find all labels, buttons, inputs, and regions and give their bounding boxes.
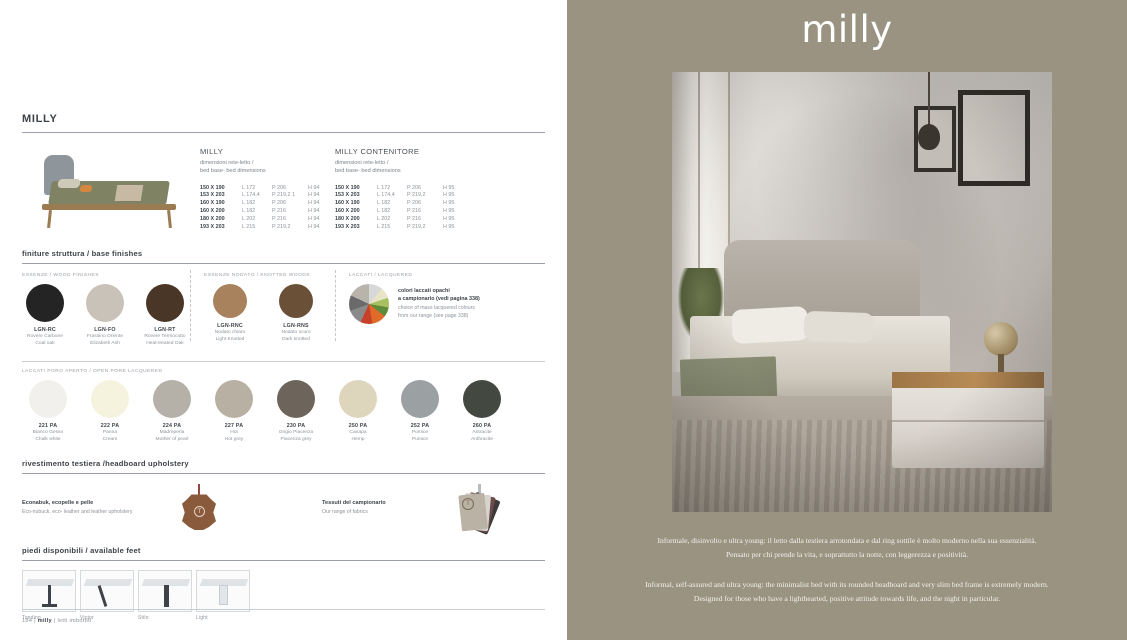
table-row: 153 X 203 L 174,4 P 219,2 H 95 <box>335 192 470 200</box>
wood-finishes-label: ESSENZE / WOOD FINISHES <box>22 273 190 278</box>
swatch-code: 222 PA <box>84 423 136 429</box>
cell-height: H 94 <box>308 207 335 215</box>
cell-size: 153 X 203 <box>200 192 242 200</box>
photo-caption: Informale, disinvolto e ultra young: il … <box>607 534 1087 606</box>
cell-length: L 174,4 <box>242 192 272 200</box>
swatch-color-circle <box>463 380 501 418</box>
cell-size: 180 X 200 <box>335 215 377 223</box>
swatch-color-circle <box>153 380 191 418</box>
cell-height: H 95 <box>443 199 470 207</box>
foot-option-stilo[interactable]: Stilo <box>138 570 192 621</box>
foot-stem-shape <box>164 585 169 607</box>
foot-stem-shape <box>98 586 108 608</box>
right-page: milly Informal <box>567 0 1127 640</box>
footer-separator: | <box>34 618 36 624</box>
dimension-block-title: MILLY CONTENITORE <box>335 147 470 156</box>
footer-category: letti imbottiti <box>57 618 91 624</box>
knotted-woods-panel: ESSENZE NODATO / KNOTTED WOODS LGN-RNC N… <box>190 266 335 347</box>
cell-length: L 182 <box>377 207 407 215</box>
cell-depth: P 216 <box>407 215 443 223</box>
foot-stem-shape <box>48 585 51 605</box>
table-row: 160 X 200 L 182 P 216 H 95 <box>335 207 470 215</box>
catalog-spread: MILLY MILLY <box>0 0 1127 640</box>
left-page: MILLY MILLY <box>0 0 567 640</box>
dimension-table: 150 X 190 L 172 P 206 H 94 153 X 203 L 1… <box>200 184 335 231</box>
dimension-block-milly: MILLY dimensioni rete-letto / bed base- … <box>200 147 335 233</box>
swatch-name-it: Madreperla <box>146 430 198 437</box>
swatch-name-it: Frassino Oriente <box>82 334 128 341</box>
foot-option-tondino[interactable]: Tondino <box>22 570 76 621</box>
foot-image <box>138 570 192 612</box>
cell-depth: P 219,2 <box>272 223 308 231</box>
swatch-name-it: Canapa <box>332 430 384 437</box>
table-row: 160 X 200 L 182 P 216 H 94 <box>200 207 335 215</box>
cell-depth: P 206 <box>407 184 443 192</box>
table-row: 153 X 203 L 174,4 P 219,2 1 H 94 <box>200 192 335 200</box>
bed-leg-left <box>47 210 52 228</box>
cell-size: 153 X 203 <box>335 192 377 200</box>
caption-en-line-1: Informal, self-assured and ultra young: … <box>607 578 1087 592</box>
table-row: 160 X 190 L 182 P 206 H 95 <box>335 199 470 207</box>
fabric-fan-icon: T <box>452 484 506 530</box>
feet-divider <box>22 560 545 561</box>
swatch-260-pa[interactable]: 260 PA Antracite Anthracite <box>456 380 508 443</box>
swatch-name-it: Nodato scuro <box>270 330 322 337</box>
bed-frame-shape <box>42 204 176 210</box>
table-row: 180 X 200 L 202 P 216 H 95 <box>335 215 470 223</box>
dimension-tables: MILLY dimensioni rete-letto / bed base- … <box>200 147 545 233</box>
cell-size: 150 X 190 <box>335 184 377 192</box>
footer-page-number: 184 <box>22 618 32 624</box>
open-pore-divider <box>22 361 545 362</box>
swatch-code: LGN-RC <box>22 327 68 333</box>
table-row: 150 X 190 L 172 P 206 H 95 <box>335 184 470 192</box>
foot-option-light[interactable]: Light <box>196 570 250 621</box>
dimension-block-subtitle: dimensioni rete-letto / bed base- bed di… <box>335 159 470 176</box>
swatch-code: LGN-RNS <box>270 323 322 329</box>
swatch-color-circle <box>277 380 315 418</box>
swatch-name-en: Mother of pearl <box>146 437 198 444</box>
footer-collection: milly <box>38 618 52 624</box>
swatch-code: 224 PA <box>146 423 198 429</box>
swatch-name-it: Nodato chiaro <box>204 330 256 337</box>
page-title: MILLY <box>22 0 545 125</box>
lacquered-line-4: from our range (see page 338) <box>398 312 480 320</box>
foot-image <box>196 570 250 612</box>
dimension-subtitle-en: bed base- bed dimensions <box>200 167 335 175</box>
bed-leg-right <box>167 210 172 228</box>
panel-divider <box>335 270 336 341</box>
swatch-code: 227 PA <box>208 423 260 429</box>
section-heading-feet: piedi disponibili / available feet <box>22 546 545 555</box>
swatch-color-circle <box>215 380 253 418</box>
cell-height: H 94 <box>308 184 335 192</box>
wood-finishes-panel: ESSENZE / WOOD FINISHES LGN-RC Rovere Ca… <box>22 266 190 347</box>
dimension-block-subtitle: dimensioni rete-letto / bed base- bed di… <box>200 159 335 176</box>
swatch-lgn-rnc[interactable]: LGN-RNC Nodato chiaro Light Knotted <box>204 284 256 343</box>
cell-length: L 202 <box>242 215 272 223</box>
upholstery-fabric-option[interactable]: Tessuti del campionario Our range of fab… <box>322 484 506 530</box>
foot-label: Stilo <box>138 615 192 621</box>
swatch-color-circle <box>86 284 124 322</box>
caption-en-line-2: Designed for those who have a lightheart… <box>607 592 1087 606</box>
table-row: 150 X 190 L 172 P 206 H 94 <box>200 184 335 192</box>
caption-it-line-2: Pensato per chi prende la vita, e soprat… <box>607 548 1087 562</box>
cell-height: H 95 <box>443 192 470 200</box>
foot-option-victor[interactable]: Victor <box>80 570 134 621</box>
section-heading-base-finishes: finiture struttura / base finishes <box>22 249 545 258</box>
swatch-name-en: Light Knotted <box>204 337 256 344</box>
upholstery-divider <box>22 473 545 474</box>
base-finishes-divider <box>22 263 545 264</box>
cell-height: H 95 <box>443 207 470 215</box>
swatch-name-en: Dark knotted <box>270 337 322 344</box>
cell-size: 160 X 200 <box>335 207 377 215</box>
swatch-code: 221 PA <box>22 423 74 429</box>
swatch-name-en: Anthracite <box>456 437 508 444</box>
swatch-color-circle <box>26 284 64 322</box>
cell-size: 193 X 203 <box>335 223 377 231</box>
footer-separator: | <box>54 618 56 624</box>
swatch-code: 250 PA <box>332 423 384 429</box>
swatch-250-pa[interactable]: 250 PA Canapa Hemp <box>332 380 384 443</box>
bedroom-lifestyle-photo <box>672 72 1052 512</box>
collection-title: milly <box>567 0 1127 51</box>
upholstery-leather-option[interactable]: Econabuk, ecopelle e pelle Eco-nubuck, e… <box>22 484 322 530</box>
swatch-code: LGN-RT <box>142 327 188 333</box>
swatch-name-it: Rovere Termocotto <box>142 334 188 341</box>
swatch-name-it: Hot <box>208 430 260 437</box>
open-pore-label: LACCATI PORO APERTO / OPEN PORE LACQUERE… <box>22 369 545 374</box>
table-row: 193 X 203 L 215 P 219,2 H 95 <box>335 223 470 231</box>
table-row: 193 X 203 L 215 P 219,2 H 94 <box>200 223 335 231</box>
cell-size: 180 X 200 <box>200 215 242 223</box>
foot-label: Light <box>196 615 250 621</box>
upholstery-label-it: Tessuti del campionario <box>322 499 442 508</box>
foot-stem-shape <box>219 585 228 605</box>
caption-italian: Informale, disinvolto e ultra young: il … <box>607 534 1087 562</box>
wood-finishes-swatches: LGN-RC Rovere Carbone Coal oak LGN-FO Fr… <box>22 284 190 347</box>
bed-pillow-shape <box>57 179 80 188</box>
swatch-name-en: Heat-treated Oak <box>142 341 188 348</box>
swatch-lgn-rc[interactable]: LGN-RC Rovere Carbone Coal oak <box>22 284 68 347</box>
foot-image <box>80 570 134 612</box>
swatch-code: 230 PA <box>270 423 322 429</box>
cell-size: 150 X 190 <box>200 184 242 192</box>
swatch-color-circle <box>91 380 129 418</box>
cell-height: H 94 <box>308 215 335 223</box>
cell-length: L 182 <box>242 207 272 215</box>
lacquered-line-3: choice of mass lacquered colours <box>398 304 480 312</box>
cell-height: H 94 <box>308 199 335 207</box>
cell-depth: P 216 <box>272 215 308 223</box>
cell-depth: P 206 <box>272 184 308 192</box>
dimension-subtitle-it: dimensioni rete-letto / <box>335 159 470 167</box>
bed-product-image <box>28 155 188 233</box>
cell-size: 160 X 190 <box>200 199 242 207</box>
upholstery-label-en: Eco-nubuck, eco- leather and leather uph… <box>22 508 172 516</box>
open-pore-swatches: 221 PA Bianco Gesso Chalk white 222 PA P… <box>22 380 545 443</box>
cell-length: L 215 <box>242 223 272 231</box>
cell-length: L 182 <box>377 199 407 207</box>
dimension-block-title: MILLY <box>200 147 335 156</box>
swatch-name-en: Cream <box>84 437 136 444</box>
lacquered-line-1: colori laccati opachi <box>398 287 480 295</box>
swatch-color-circle <box>339 380 377 418</box>
cell-length: L 174,4 <box>377 192 407 200</box>
swatch-name-it: Pomice <box>394 430 446 437</box>
cell-length: L 202 <box>377 215 407 223</box>
base-finishes-panels: ESSENZE / WOOD FINISHES LGN-RC Rovere Ca… <box>22 266 545 347</box>
swatch-name-it: Antracite <box>456 430 508 437</box>
swatch-color-circle <box>29 380 67 418</box>
swatch-name-it: Rovere Carbone <box>22 334 68 341</box>
knotted-woods-label: ESSENZE NODATO / KNOTTED WOODS <box>204 273 335 278</box>
title-divider <box>22 132 545 133</box>
swatch-color-circle <box>279 284 313 318</box>
cell-height: H 94 <box>308 192 335 200</box>
lacquered-line-2: a campionario (vedi pagina 338) <box>398 295 480 303</box>
cell-depth: P 206 <box>272 199 308 207</box>
scene-vignette <box>672 72 1052 512</box>
lacquered-label: LACCATI / LACQUERED <box>349 273 535 278</box>
lacquered-text: colori laccati opachi a campionario (ved… <box>398 284 480 320</box>
swatch-name-it: Grigio Piacenza <box>270 430 322 437</box>
foot-disc-shape <box>42 604 57 607</box>
leather-tag-icon: T <box>182 484 216 530</box>
table-row: 180 X 200 L 202 P 216 H 94 <box>200 215 335 223</box>
cell-depth: P 219,2 1 <box>272 192 308 200</box>
panel-divider <box>190 270 191 341</box>
cell-height: H 95 <box>443 223 470 231</box>
swatch-color-circle <box>213 284 247 318</box>
cell-length: L 172 <box>242 184 272 192</box>
dimension-table: 150 X 190 L 172 P 206 H 95 153 X 203 L 1… <box>335 184 470 231</box>
product-row: MILLY dimensioni rete-letto / bed base- … <box>22 147 545 233</box>
foot-base-shape <box>84 579 133 586</box>
bed-accent-cushion <box>79 185 92 192</box>
caption-it-line-1: Informale, disinvolto e ultra young: il … <box>607 534 1087 548</box>
swatch-color-circle <box>401 380 439 418</box>
swatch-code: LGN-RNC <box>204 323 256 329</box>
colour-wheel-icon <box>349 284 389 324</box>
swatch-lgn-rns[interactable]: LGN-RNS Nodato scuro Dark knotted <box>270 284 322 343</box>
swatch-name-en: Elizabeth Ash <box>82 341 128 348</box>
swatch-color-circle <box>146 284 184 322</box>
swatch-name-en: Hot grey <box>208 437 260 444</box>
cell-height: H 94 <box>308 223 335 231</box>
footer-divider <box>22 609 545 610</box>
cell-size: 160 X 190 <box>335 199 377 207</box>
lacquered-panel: LACCATI / LACQUERED colori laccati opach… <box>335 266 535 347</box>
knotted-woods-swatches: LGN-RNC Nodato chiaro Light Knotted LGN-… <box>204 284 335 343</box>
swatch-name-en: Chalk white <box>22 437 74 444</box>
dimension-subtitle-it: dimensioni rete-letto / <box>200 159 335 167</box>
cell-depth: P 216 <box>272 207 308 215</box>
cell-size: 160 X 200 <box>200 207 242 215</box>
upholstery-label-it: Econabuk, ecopelle e pelle <box>22 499 172 508</box>
cell-depth: P 219,2 <box>407 192 443 200</box>
lacquered-colour-wheel-box[interactable]: colori laccati opachi a campionario (ved… <box>349 284 535 324</box>
bed-throw-shape <box>115 185 144 201</box>
page-footer: 184 | milly | letti imbottiti <box>22 618 91 624</box>
foot-image <box>22 570 76 612</box>
upholstery-row: Econabuk, ecopelle e pelle Eco-nubuck, e… <box>22 484 545 530</box>
swatch-code: 252 PA <box>394 423 446 429</box>
swatch-name-en: Coal oak <box>22 341 68 348</box>
swatch-name-en: Piacenza grey <box>270 437 322 444</box>
swatch-252-pa[interactable]: 252 PA Pomice Pumice <box>394 380 446 443</box>
swatch-name-it: Panna <box>84 430 136 437</box>
cell-depth: P 216 <box>407 207 443 215</box>
cell-depth: P 206 <box>407 199 443 207</box>
swatch-lgn-fo[interactable]: LGN-FO Frassino Oriente Elizabeth Ash <box>82 284 128 347</box>
swatch-222-pa[interactable]: 222 PA Panna Cream <box>84 380 136 443</box>
swatch-code: 260 PA <box>456 423 508 429</box>
available-feet-row: Tondino Victor Stilo <box>22 570 545 621</box>
cell-depth: P 219,2 <box>407 223 443 231</box>
cell-height: H 95 <box>443 215 470 223</box>
swatch-name-en: Hemp <box>332 437 384 444</box>
swatch-name-en: Pumice <box>394 437 446 444</box>
swatch-224-pa[interactable]: 224 PA Madreperla Mother of pearl <box>146 380 198 443</box>
swatch-221-pa[interactable]: 221 PA Bianco Gesso Chalk white <box>22 380 74 443</box>
cell-length: L 182 <box>242 199 272 207</box>
cell-length: L 215 <box>377 223 407 231</box>
dimension-block-milly-contenitore: MILLY CONTENITORE dimensioni rete-letto … <box>335 147 470 233</box>
section-heading-upholstery: rivestimento testiera /headboard upholst… <box>22 459 545 468</box>
caption-english: Informal, self-assured and ultra young: … <box>607 578 1087 606</box>
swatch-230-pa[interactable]: 230 PA Grigio Piacenza Piacenza grey <box>270 380 322 443</box>
swatch-name-it: Bianco Gesso <box>22 430 74 437</box>
swatch-lgn-rt[interactable]: LGN-RT Rovere Termocotto Heat-treated Oa… <box>142 284 188 347</box>
swatch-code: LGN-FO <box>82 327 128 333</box>
cell-length: L 172 <box>377 184 407 192</box>
dimension-subtitle-en: bed base- bed dimensions <box>335 167 470 175</box>
table-row: 160 X 190 L 182 P 206 H 94 <box>200 199 335 207</box>
swatch-227-pa[interactable]: 227 PA Hot Hot grey <box>208 380 260 443</box>
cell-size: 193 X 203 <box>200 223 242 231</box>
cell-height: H 95 <box>443 184 470 192</box>
upholstery-label-en: Our range of fabrics <box>322 508 442 516</box>
